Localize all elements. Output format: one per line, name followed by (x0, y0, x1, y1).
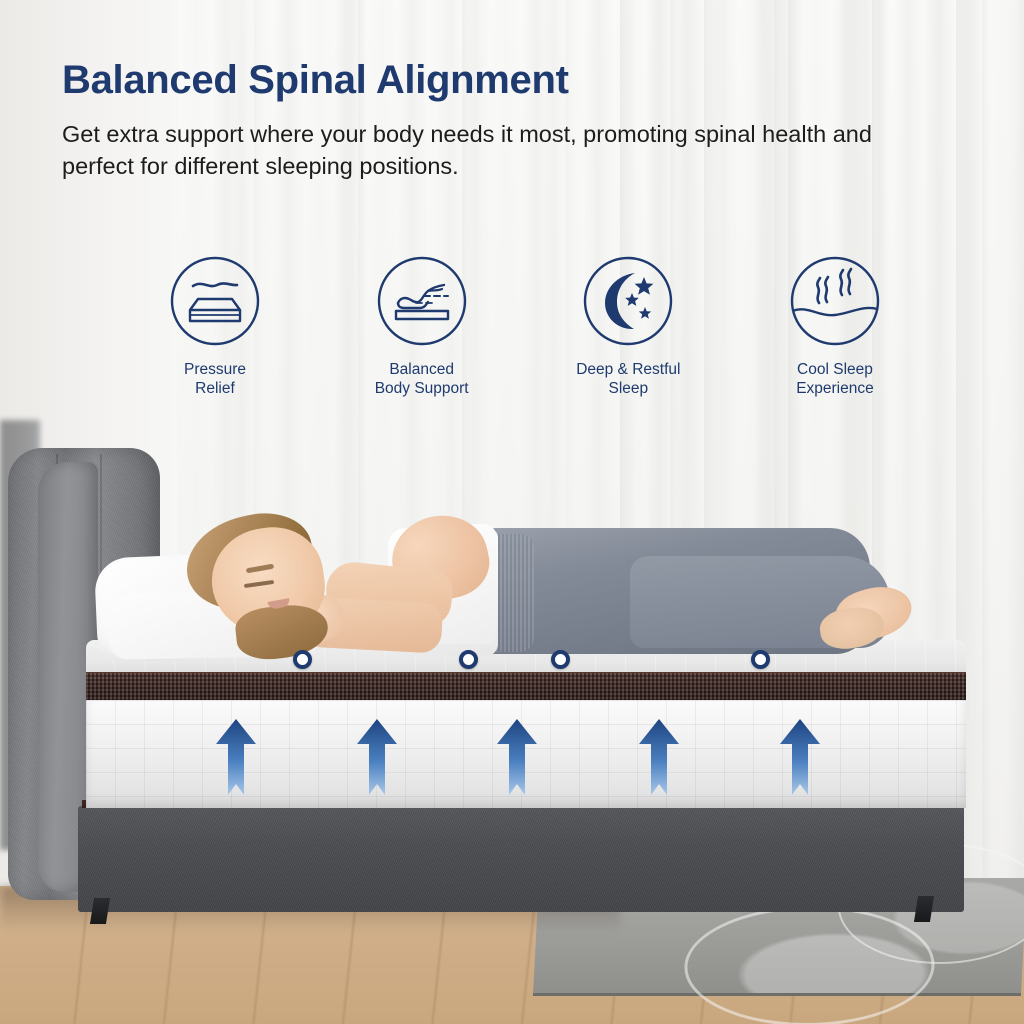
feature-label: Deep & Restful Sleep (576, 360, 680, 398)
feature-list: Pressure Relief Balanced (120, 255, 930, 415)
feature-deep-restful-sleep[interactable]: Deep & Restful Sleep (533, 255, 723, 398)
upward-support-arrow (355, 718, 399, 796)
airflow-waves-icon (789, 255, 881, 347)
feature-cool-sleep-experience[interactable]: Cool Sleep Experience (740, 255, 930, 398)
bed-base (78, 806, 964, 912)
spinal-alignment-marker (293, 650, 312, 669)
page-subtitle: Get extra support where your body needs … (62, 118, 892, 182)
mattress-wave-icon (169, 255, 261, 347)
upward-support-arrow (637, 718, 681, 796)
spinal-alignment-marker (751, 650, 770, 669)
spinal-alignment-marker (459, 650, 478, 669)
feature-label: Balanced Body Support (375, 360, 469, 398)
page-title: Balanced Spinal Alignment (62, 58, 569, 103)
upward-support-arrow (778, 718, 822, 796)
mattress-mesh-band (86, 672, 966, 702)
feature-label: Pressure Relief (184, 360, 246, 398)
upward-support-arrow (214, 718, 258, 796)
upward-support-arrow (495, 718, 539, 796)
marketing-banner: Balanced Spinal Alignment Get extra supp… (0, 0, 1024, 1024)
moon-stars-icon (582, 255, 674, 347)
body-on-mattress-icon (376, 255, 468, 347)
feature-label: Cool Sleep Experience (796, 360, 874, 398)
feature-pressure-relief[interactable]: Pressure Relief (120, 255, 310, 398)
feature-balanced-body-support[interactable]: Balanced Body Support (327, 255, 517, 398)
spinal-alignment-marker (551, 650, 570, 669)
